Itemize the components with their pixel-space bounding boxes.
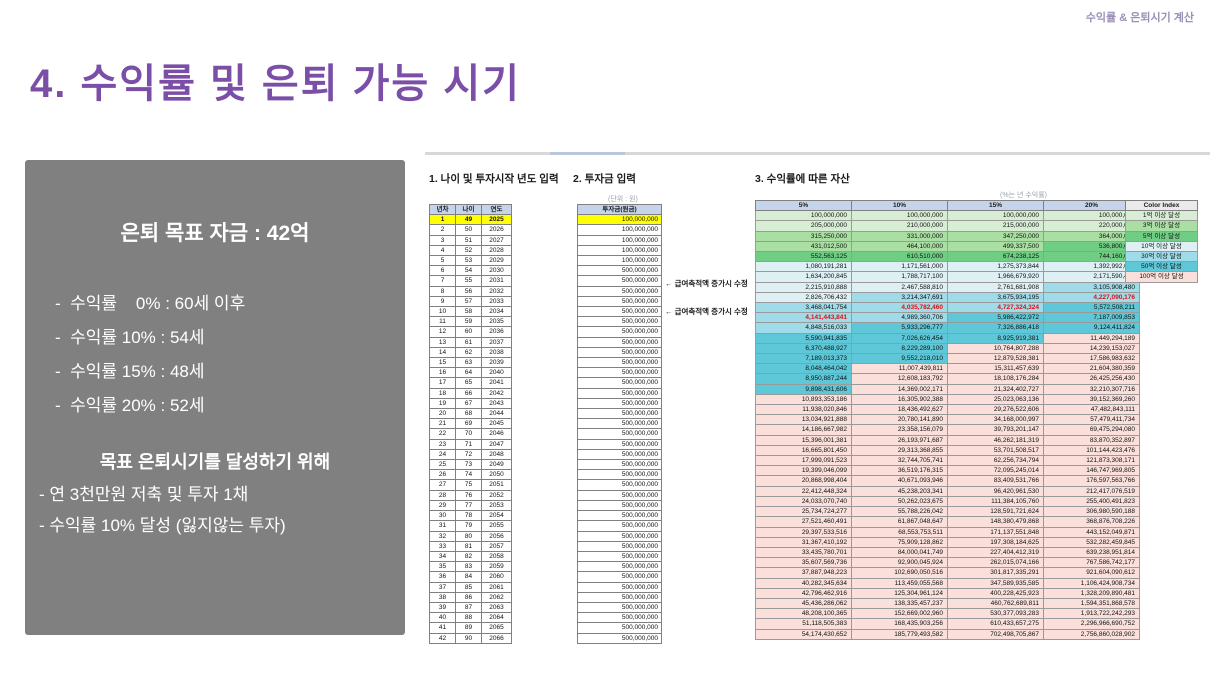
asset-cell[interactable]: 40,282,345,634 <box>756 578 852 588</box>
ages-cell[interactable]: 2038 <box>482 347 512 357</box>
investment-cell[interactable]: 500,000,000 <box>578 429 662 439</box>
ages-cell[interactable]: 11 <box>430 317 456 327</box>
table-row[interactable]: 315,250,000331,000,000347,250,000364,000… <box>756 231 1140 241</box>
ages-cell[interactable]: 30 <box>430 511 456 521</box>
asset-cell[interactable]: 5,572,508,211 <box>1044 303 1140 313</box>
asset-cell[interactable]: 34,168,000,997 <box>948 415 1044 425</box>
ages-cell[interactable]: 16 <box>430 368 456 378</box>
ages-cell[interactable]: 78 <box>456 511 482 521</box>
table-row[interactable]: 39872063 <box>430 602 512 612</box>
ages-cell[interactable]: 70 <box>456 429 482 439</box>
ages-cell[interactable]: 6 <box>430 266 456 276</box>
table-row[interactable]: 500,000,000 <box>578 551 662 561</box>
asset-cell[interactable]: 138,335,457,237 <box>852 598 948 608</box>
ages-cell[interactable]: 12 <box>430 327 456 337</box>
asset-cell[interactable]: 530,377,093,283 <box>948 609 1044 619</box>
asset-cell[interactable]: 36,519,176,315 <box>852 466 948 476</box>
table-row[interactable]: 37,887,948,223102,690,050,516301,817,335… <box>756 568 1140 578</box>
asset-cell[interactable]: 1,171,561,000 <box>852 262 948 272</box>
asset-cell[interactable]: 443,152,049,871 <box>1044 527 1140 537</box>
asset-cell[interactable]: 8,229,289,100 <box>852 343 948 353</box>
ages-cell[interactable]: 62 <box>456 347 482 357</box>
asset-cell[interactable]: 1,080,191,281 <box>756 262 852 272</box>
investment-cell[interactable]: 500,000,000 <box>578 511 662 521</box>
asset-cell[interactable]: 62,256,734,794 <box>948 456 1044 466</box>
table-row[interactable]: 29,397,533,51668,553,753,511171,137,551,… <box>756 527 1140 537</box>
ages-cell[interactable]: 64 <box>456 368 482 378</box>
table-row[interactable]: 20,868,998,40440,671,093,94683,409,531,7… <box>756 476 1140 486</box>
ages-cell[interactable]: 5 <box>430 256 456 266</box>
asset-cell[interactable]: 702,498,705,867 <box>948 629 1044 639</box>
asset-cell[interactable]: 3,468,041,754 <box>756 303 852 313</box>
asset-cell[interactable]: 1,106,424,908,734 <box>1044 578 1140 588</box>
table-row[interactable]: 24,033,070,74050,262,023,675111,384,105,… <box>756 496 1140 506</box>
ages-cell[interactable]: 7 <box>430 276 456 286</box>
table-row[interactable]: 21692045 <box>430 419 512 429</box>
table-row[interactable]: 27,521,460,49161,867,048,647148,380,479,… <box>756 517 1140 527</box>
asset-cell[interactable]: 128,591,721,624 <box>948 507 1044 517</box>
asset-cell[interactable]: 10,893,353,186 <box>756 394 852 404</box>
table-row[interactable]: 3512027 <box>430 235 512 245</box>
asset-cell[interactable]: 4,227,090,176 <box>1044 292 1140 302</box>
table-row[interactable]: 5532029 <box>430 256 512 266</box>
table-row[interactable]: 13,034,921,88820,780,141,89034,168,000,9… <box>756 415 1140 425</box>
asset-cell[interactable]: 10,764,807,288 <box>948 343 1044 353</box>
table-row[interactable]: 41892065 <box>430 623 512 633</box>
ages-cell[interactable]: 2037 <box>482 337 512 347</box>
ages-cell[interactable]: 85 <box>456 582 482 592</box>
asset-cell[interactable]: 51,118,505,383 <box>756 619 852 629</box>
asset-cell[interactable]: 8,950,887,244 <box>756 374 852 384</box>
asset-cell[interactable]: 11,007,439,811 <box>852 364 948 374</box>
asset-cell[interactable]: 54,174,430,652 <box>756 629 852 639</box>
investment-cell[interactable]: 500,000,000 <box>578 286 662 296</box>
asset-cell[interactable]: 8,925,919,381 <box>948 333 1044 343</box>
asset-cell[interactable]: 7,189,013,373 <box>756 354 852 364</box>
ages-cell[interactable]: 52 <box>456 245 482 255</box>
table-row[interactable]: 500,000,000 <box>578 276 662 286</box>
asset-cell[interactable]: 3,214,347,691 <box>852 292 948 302</box>
asset-cell[interactable]: 9,898,431,606 <box>756 384 852 394</box>
investment-cell[interactable]: 500,000,000 <box>578 480 662 490</box>
ages-cell[interactable]: 83 <box>456 562 482 572</box>
table-row[interactable]: 500,000,000 <box>578 337 662 347</box>
ages-cell[interactable]: 69 <box>456 419 482 429</box>
ages-cell[interactable]: 86 <box>456 592 482 602</box>
asset-cell[interactable]: 205,000,000 <box>756 221 852 231</box>
ages-cell[interactable]: 2047 <box>482 439 512 449</box>
investment-cell[interactable]: 500,000,000 <box>578 327 662 337</box>
ages-cell[interactable]: 2025 <box>482 215 512 225</box>
investment-cell[interactable]: 500,000,000 <box>578 541 662 551</box>
table-row[interactable]: 500,000,000 <box>578 460 662 470</box>
asset-cell[interactable]: 532,282,459,845 <box>1044 537 1140 547</box>
asset-cell[interactable]: 20,780,141,890 <box>852 415 948 425</box>
table-row[interactable]: 500,000,000 <box>578 266 662 276</box>
ages-cell[interactable]: 2042 <box>482 388 512 398</box>
asset-cell[interactable]: 400,228,425,923 <box>948 588 1044 598</box>
table-row[interactable]: 4,848,516,0335,933,296,7777,326,886,4189… <box>756 323 1140 333</box>
ages-cell[interactable]: 2057 <box>482 541 512 551</box>
asset-cell[interactable]: 83,409,531,766 <box>948 476 1044 486</box>
ages-cell[interactable]: 76 <box>456 490 482 500</box>
investment-cell[interactable]: 100,000,000 <box>578 235 662 245</box>
asset-cell[interactable]: 4,141,443,841 <box>756 313 852 323</box>
investment-cell[interactable]: 500,000,000 <box>578 296 662 306</box>
table-row[interactable]: 500,000,000 <box>578 490 662 500</box>
ages-cell[interactable]: 2027 <box>482 235 512 245</box>
table-row[interactable]: 500,000,000 <box>578 419 662 429</box>
ages-cell[interactable]: 2028 <box>482 245 512 255</box>
asset-cell[interactable]: 100,000,000 <box>852 211 948 221</box>
table-row[interactable]: 19672043 <box>430 398 512 408</box>
asset-cell[interactable]: 14,369,002,171 <box>852 384 948 394</box>
ages-cell[interactable]: 57 <box>456 296 482 306</box>
table-row[interactable]: 500,000,000 <box>578 347 662 357</box>
table-row[interactable]: 552,563,125610,510,000674,238,125744,160… <box>756 252 1140 262</box>
asset-cell[interactable]: 16,665,801,450 <box>756 445 852 455</box>
asset-cell[interactable]: 460,762,689,811 <box>948 598 1044 608</box>
asset-cell[interactable]: 19,399,046,099 <box>756 466 852 476</box>
ages-cell[interactable]: 26 <box>430 470 456 480</box>
investment-table[interactable]: 투자금(원금) 100,000,000100,000,000100,000,00… <box>577 204 662 644</box>
ages-cell[interactable]: 42 <box>430 633 456 643</box>
asset-cell[interactable]: 255,400,491,823 <box>1044 496 1140 506</box>
asset-cell[interactable]: 552,563,125 <box>756 252 852 262</box>
table-row[interactable]: 29772053 <box>430 500 512 510</box>
asset-cell[interactable]: 68,553,753,511 <box>852 527 948 537</box>
asset-cell[interactable]: 26,425,256,430 <box>1044 374 1140 384</box>
table-row[interactable]: 31792055 <box>430 521 512 531</box>
table-row[interactable]: 10,893,353,18616,305,902,38825,023,063,1… <box>756 394 1140 404</box>
table-row[interactable]: 22702046 <box>430 429 512 439</box>
asset-cell[interactable]: 18,436,492,627 <box>852 405 948 415</box>
ages-cell[interactable]: 21 <box>430 419 456 429</box>
table-row[interactable]: 28762052 <box>430 490 512 500</box>
asset-cell[interactable]: 146,747,969,805 <box>1044 466 1140 476</box>
asset-cell[interactable]: 1,275,373,844 <box>948 262 1044 272</box>
asset-cell[interactable]: 101,144,423,476 <box>1044 445 1140 455</box>
ages-cell[interactable]: 2053 <box>482 500 512 510</box>
ages-cell[interactable]: 32 <box>430 531 456 541</box>
investment-cell[interactable]: 500,000,000 <box>578 378 662 388</box>
ages-cell[interactable]: 60 <box>456 327 482 337</box>
investment-cell[interactable]: 500,000,000 <box>578 562 662 572</box>
asset-cell[interactable]: 2,761,681,908 <box>948 282 1044 292</box>
ages-cell[interactable]: 2044 <box>482 409 512 419</box>
table-row[interactable]: 31,367,410,19275,909,128,862197,308,184,… <box>756 537 1140 547</box>
table-row[interactable]: 3,468,041,7544,035,782,4604,727,324,3245… <box>756 303 1140 313</box>
investment-cell[interactable]: 500,000,000 <box>578 337 662 347</box>
table-row[interactable]: 500,000,000 <box>578 541 662 551</box>
asset-cell[interactable]: 921,604,090,612 <box>1044 568 1140 578</box>
ages-cell[interactable]: 75 <box>456 480 482 490</box>
asset-cell[interactable]: 53,701,508,517 <box>948 445 1044 455</box>
ages-cell[interactable]: 80 <box>456 531 482 541</box>
ages-cell[interactable]: 2033 <box>482 296 512 306</box>
ages-cell[interactable]: 19 <box>430 398 456 408</box>
asset-cell[interactable]: 35,607,569,736 <box>756 558 852 568</box>
investment-cell[interactable]: 500,000,000 <box>578 368 662 378</box>
asset-cell[interactable]: 15,396,001,381 <box>756 435 852 445</box>
investment-cell[interactable]: 500,000,000 <box>578 582 662 592</box>
investment-cell[interactable]: 500,000,000 <box>578 276 662 286</box>
table-row[interactable]: 7,189,013,3739,552,218,01012,879,528,381… <box>756 354 1140 364</box>
asset-cell[interactable]: 22,412,448,324 <box>756 486 852 496</box>
asset-cell[interactable]: 499,337,500 <box>948 241 1044 251</box>
table-row[interactable]: 42902066 <box>430 633 512 643</box>
asset-cell[interactable]: 46,262,181,319 <box>948 435 1044 445</box>
asset-cell[interactable]: 92,900,045,924 <box>852 558 948 568</box>
ages-cell[interactable]: 9 <box>430 296 456 306</box>
asset-cell[interactable]: 40,671,093,946 <box>852 476 948 486</box>
table-row[interactable]: 8562032 <box>430 286 512 296</box>
table-row[interactable]: 14,186,667,98223,358,156,07939,793,201,1… <box>756 425 1140 435</box>
table-row[interactable]: 23712047 <box>430 439 512 449</box>
asset-cell[interactable]: 102,690,050,516 <box>852 568 948 578</box>
table-row[interactable]: 500,000,000 <box>578 358 662 368</box>
investment-cell[interactable]: 500,000,000 <box>578 490 662 500</box>
asset-cell[interactable]: 301,817,335,291 <box>948 568 1044 578</box>
table-row[interactable]: 27752051 <box>430 480 512 490</box>
asset-cell[interactable]: 767,586,742,177 <box>1044 558 1140 568</box>
table-row[interactable]: 1492025 <box>430 215 512 225</box>
ages-cell[interactable]: 4 <box>430 245 456 255</box>
investment-cell[interactable]: 500,000,000 <box>578 500 662 510</box>
asset-cell[interactable]: 227,404,412,319 <box>948 547 1044 557</box>
table-row[interactable]: 7552031 <box>430 276 512 286</box>
investment-cell[interactable]: 500,000,000 <box>578 551 662 561</box>
ages-cell[interactable]: 72 <box>456 449 482 459</box>
asset-cell[interactable]: 39,152,369,260 <box>1044 394 1140 404</box>
investment-cell[interactable]: 500,000,000 <box>578 531 662 541</box>
table-row[interactable]: 9572033 <box>430 296 512 306</box>
ages-cell[interactable]: 2041 <box>482 378 512 388</box>
asset-cell[interactable]: 674,238,125 <box>948 252 1044 262</box>
investment-cell[interactable]: 500,000,000 <box>578 521 662 531</box>
asset-cell[interactable]: 306,980,590,188 <box>1044 507 1140 517</box>
asset-cell[interactable]: 84,000,041,749 <box>852 547 948 557</box>
assets-table[interactable]: 5%10%15%20% 100,000,000100,000,000100,00… <box>755 200 1140 640</box>
asset-cell[interactable]: 7,326,886,418 <box>948 323 1044 333</box>
table-row[interactable]: 500,000,000 <box>578 633 662 643</box>
investment-cell[interactable]: 100,000,000 <box>578 225 662 235</box>
ages-cell[interactable]: 89 <box>456 623 482 633</box>
asset-cell[interactable]: 15,311,457,639 <box>948 364 1044 374</box>
ages-cell[interactable]: 2050 <box>482 470 512 480</box>
table-row[interactable]: 1,080,191,2811,171,561,0001,275,373,8441… <box>756 262 1140 272</box>
table-row[interactable]: 10582034 <box>430 307 512 317</box>
table-row[interactable]: 36842060 <box>430 572 512 582</box>
asset-cell[interactable]: 14,186,667,982 <box>756 425 852 435</box>
table-row[interactable]: 500,000,000 <box>578 582 662 592</box>
asset-cell[interactable]: 1,913,722,242,293 <box>1044 609 1140 619</box>
ages-cell[interactable]: 14 <box>430 347 456 357</box>
asset-cell[interactable]: 25,734,724,277 <box>756 507 852 517</box>
investment-cell[interactable]: 500,000,000 <box>578 602 662 612</box>
asset-cell[interactable]: 168,435,903,256 <box>852 619 948 629</box>
asset-cell[interactable]: 72,095,245,014 <box>948 466 1044 476</box>
table-row[interactable]: 2502026 <box>430 225 512 235</box>
asset-cell[interactable]: 29,397,533,516 <box>756 527 852 537</box>
ages-cell[interactable]: 13 <box>430 337 456 347</box>
table-row[interactable]: 33,435,780,70184,000,041,749227,404,412,… <box>756 547 1140 557</box>
ages-cell[interactable]: 2063 <box>482 602 512 612</box>
asset-cell[interactable]: 16,305,902,388 <box>852 394 948 404</box>
table-row[interactable]: 9,898,431,60614,369,002,17121,324,402,72… <box>756 384 1140 394</box>
asset-cell[interactable]: 37,887,948,223 <box>756 568 852 578</box>
asset-cell[interactable]: 4,989,360,706 <box>852 313 948 323</box>
asset-cell[interactable]: 431,012,500 <box>756 241 852 251</box>
ages-cell[interactable]: 1 <box>430 215 456 225</box>
table-row[interactable]: 500,000,000 <box>578 409 662 419</box>
investment-cell[interactable]: 100,000,000 <box>578 256 662 266</box>
ages-cell[interactable]: 36 <box>430 572 456 582</box>
investment-cell[interactable]: 500,000,000 <box>578 266 662 276</box>
asset-cell[interactable]: 610,510,000 <box>852 252 948 262</box>
asset-cell[interactable]: 2,296,966,690,752 <box>1044 619 1140 629</box>
asset-cell[interactable]: 8,048,464,042 <box>756 364 852 374</box>
table-row[interactable]: 33812057 <box>430 541 512 551</box>
ages-cell[interactable]: 2035 <box>482 317 512 327</box>
table-row[interactable]: 38862062 <box>430 592 512 602</box>
asset-cell[interactable]: 20,868,998,404 <box>756 476 852 486</box>
ages-cell[interactable]: 41 <box>430 623 456 633</box>
investment-cell[interactable]: 500,000,000 <box>578 623 662 633</box>
investment-cell[interactable]: 500,000,000 <box>578 409 662 419</box>
investment-cell[interactable]: 500,000,000 <box>578 572 662 582</box>
table-row[interactable]: 48,208,100,365152,669,002,960530,377,093… <box>756 609 1140 619</box>
table-row[interactable]: 500,000,000 <box>578 531 662 541</box>
asset-cell[interactable]: 197,308,184,625 <box>948 537 1044 547</box>
table-row[interactable]: 500,000,000 <box>578 317 662 327</box>
asset-cell[interactable]: 12,608,183,792 <box>852 374 948 384</box>
table-row[interactable]: 40,282,345,634113,459,055,568347,589,935… <box>756 578 1140 588</box>
asset-cell[interactable]: 14,239,153,027 <box>1044 343 1140 353</box>
ages-cell[interactable]: 38 <box>430 592 456 602</box>
ages-cell[interactable]: 23 <box>430 439 456 449</box>
ages-cell[interactable]: 37 <box>430 582 456 592</box>
asset-cell[interactable]: 9,124,411,824 <box>1044 323 1140 333</box>
asset-cell[interactable]: 31,367,410,192 <box>756 537 852 547</box>
table-row[interactable]: 20682044 <box>430 409 512 419</box>
table-row[interactable]: 500,000,000 <box>578 511 662 521</box>
asset-cell[interactable]: 100,000,000 <box>948 211 1044 221</box>
asset-cell[interactable]: 29,276,522,606 <box>948 405 1044 415</box>
table-row[interactable]: 100,000,000 <box>578 215 662 225</box>
table-row[interactable]: 2,826,706,4323,214,347,6913,675,934,1954… <box>756 292 1140 302</box>
table-row[interactable]: 32802056 <box>430 531 512 541</box>
asset-cell[interactable]: 47,482,843,111 <box>1044 405 1140 415</box>
table-row[interactable]: 22,412,448,32445,238,203,34196,420,961,5… <box>756 486 1140 496</box>
ages-cell[interactable]: 2031 <box>482 276 512 286</box>
ages-cell[interactable]: 40 <box>430 613 456 623</box>
asset-cell[interactable]: 42,796,462,916 <box>756 588 852 598</box>
ages-cell[interactable]: 20 <box>430 409 456 419</box>
ages-cell[interactable]: 82 <box>456 551 482 561</box>
asset-cell[interactable]: 315,250,000 <box>756 231 852 241</box>
asset-cell[interactable]: 125,304,961,124 <box>852 588 948 598</box>
ages-cell[interactable]: 2 <box>430 225 456 235</box>
ages-cell[interactable]: 56 <box>456 286 482 296</box>
ages-cell[interactable]: 2034 <box>482 307 512 317</box>
table-row[interactable]: 25732049 <box>430 460 512 470</box>
asset-cell[interactable]: 61,867,048,647 <box>852 517 948 527</box>
asset-cell[interactable]: 83,870,352,897 <box>1044 435 1140 445</box>
asset-cell[interactable]: 176,597,563,766 <box>1044 476 1140 486</box>
table-row[interactable]: 5,590,941,8357,026,626,4548,925,919,3811… <box>756 333 1140 343</box>
investment-cell[interactable]: 500,000,000 <box>578 633 662 643</box>
table-row[interactable]: 500,000,000 <box>578 368 662 378</box>
investment-cell[interactable]: 500,000,000 <box>578 439 662 449</box>
table-row[interactable]: 13612037 <box>430 337 512 347</box>
ages-cell[interactable]: 8 <box>430 286 456 296</box>
investment-cell[interactable]: 500,000,000 <box>578 307 662 317</box>
investment-cell[interactable]: 500,000,000 <box>578 592 662 602</box>
ages-cell[interactable]: 77 <box>456 500 482 510</box>
asset-cell[interactable]: 69,475,294,080 <box>1044 425 1140 435</box>
asset-cell[interactable]: 25,023,063,136 <box>948 394 1044 404</box>
investment-cell[interactable]: 500,000,000 <box>578 460 662 470</box>
asset-cell[interactable]: 11,449,294,189 <box>1044 333 1140 343</box>
asset-cell[interactable]: 23,358,156,079 <box>852 425 948 435</box>
ages-cell[interactable]: 55 <box>456 276 482 286</box>
table-row[interactable]: 16,665,801,45029,313,368,85553,701,508,5… <box>756 445 1140 455</box>
table-row[interactable]: 100,000,000 <box>578 245 662 255</box>
asset-cell[interactable]: 1,328,209,890,481 <box>1044 588 1140 598</box>
asset-cell[interactable]: 215,000,000 <box>948 221 1044 231</box>
ages-cell[interactable]: 68 <box>456 409 482 419</box>
table-row[interactable]: 35832059 <box>430 562 512 572</box>
ages-cell[interactable]: 2060 <box>482 572 512 582</box>
table-row[interactable]: 42,796,462,916125,304,961,124400,228,425… <box>756 588 1140 598</box>
ages-cell[interactable]: 87 <box>456 602 482 612</box>
table-row[interactable]: 15,396,001,38126,193,971,68746,262,181,3… <box>756 435 1140 445</box>
ages-cell[interactable]: 81 <box>456 541 482 551</box>
asset-cell[interactable]: 1,634,200,845 <box>756 272 852 282</box>
table-row[interactable]: 500,000,000 <box>578 449 662 459</box>
table-row[interactable]: 26742050 <box>430 470 512 480</box>
asset-cell[interactable]: 12,879,528,381 <box>948 354 1044 364</box>
ages-cell[interactable]: 2043 <box>482 398 512 408</box>
table-row[interactable]: 100,000,000 <box>578 256 662 266</box>
table-row[interactable]: 500,000,000 <box>578 439 662 449</box>
ages-cell[interactable]: 65 <box>456 378 482 388</box>
ages-cell[interactable]: 10 <box>430 307 456 317</box>
table-row[interactable]: 100,000,000100,000,000100,000,000100,000… <box>756 211 1140 221</box>
ages-cell[interactable]: 67 <box>456 398 482 408</box>
asset-cell[interactable]: 57,479,411,734 <box>1044 415 1140 425</box>
ages-cell[interactable]: 2058 <box>482 551 512 561</box>
ages-cell[interactable]: 22 <box>430 429 456 439</box>
asset-cell[interactable]: 347,589,935,585 <box>948 578 1044 588</box>
table-row[interactable]: 11,938,020,84618,436,492,62729,276,522,6… <box>756 405 1140 415</box>
ages-cell[interactable]: 2045 <box>482 419 512 429</box>
ages-cell[interactable]: 2051 <box>482 480 512 490</box>
asset-cell[interactable]: 27,521,460,491 <box>756 517 852 527</box>
ages-cell[interactable]: 35 <box>430 562 456 572</box>
asset-cell[interactable]: 18,108,176,284 <box>948 374 1044 384</box>
table-row[interactable]: 500,000,000 <box>578 378 662 388</box>
table-row[interactable]: 100,000,000 <box>578 225 662 235</box>
ages-cell[interactable]: 33 <box>430 541 456 551</box>
asset-cell[interactable]: 6,370,488,927 <box>756 343 852 353</box>
asset-cell[interactable]: 148,380,479,868 <box>948 517 1044 527</box>
table-row[interactable]: 6,370,488,9278,229,289,10010,764,807,288… <box>756 343 1140 353</box>
table-row[interactable]: 500,000,000 <box>578 602 662 612</box>
asset-cell[interactable]: 210,000,000 <box>852 221 948 231</box>
asset-cell[interactable]: 2,467,588,810 <box>852 282 948 292</box>
